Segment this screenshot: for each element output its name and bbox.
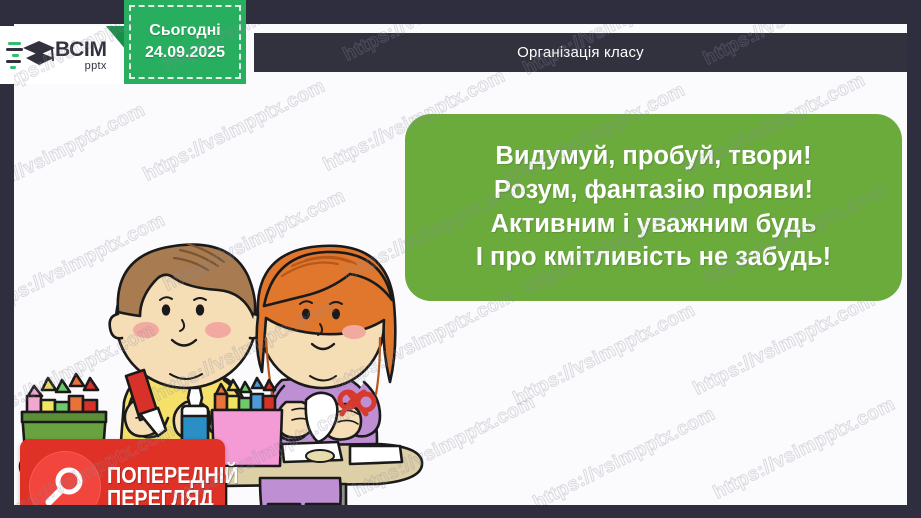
girl-leg-right	[303, 504, 341, 505]
watermark-text: https://vsimpptx.com	[710, 394, 899, 505]
watermark-text: https://vsimpptx.com	[530, 404, 719, 505]
poem-panel: Видумуй, пробуй, твори! Розум, фантазію …	[405, 114, 902, 301]
logo[interactable]: ВСІМ pptx	[0, 26, 120, 84]
watermark-text: https://vsimpptx.com	[510, 300, 699, 411]
date-badge-value: 24.09.2025	[145, 44, 225, 62]
preview-badge[interactable]: ПОПЕРЕДНІЙ ПЕРЕГЛЯД	[20, 439, 225, 505]
date-badge-label: Сьогодні	[149, 22, 220, 40]
magnifier-icon	[29, 451, 101, 505]
preview-badge-line2: ПЕРЕГЛЯД	[107, 487, 238, 505]
page-title: Організація класу	[517, 44, 644, 61]
girl-skirt	[260, 478, 341, 505]
graduation-cap-icon	[6, 35, 54, 75]
poem-line: І про кмітливість не забудь!	[476, 241, 831, 275]
watermark-text: https://vsimpptx.com	[690, 290, 879, 401]
preview-badge-line1: ПОПЕРЕДНІЙ	[107, 464, 238, 487]
poem-line: Активним і уважним будь	[491, 208, 817, 242]
date-badge: Сьогодні 24.09.2025	[124, 0, 246, 84]
girl-leg-left	[265, 504, 303, 505]
logo-title: ВСІМ	[55, 39, 107, 60]
slide-root: https://vsimpptx.com https://vsimpptx.co…	[0, 0, 921, 518]
header-bar: Організація класу	[254, 33, 907, 72]
poem-line: Видумуй, пробуй, твори!	[495, 140, 811, 174]
poem-line: Розум, фантазію прояви!	[494, 174, 813, 208]
logo-subtitle: pptx	[55, 61, 107, 72]
